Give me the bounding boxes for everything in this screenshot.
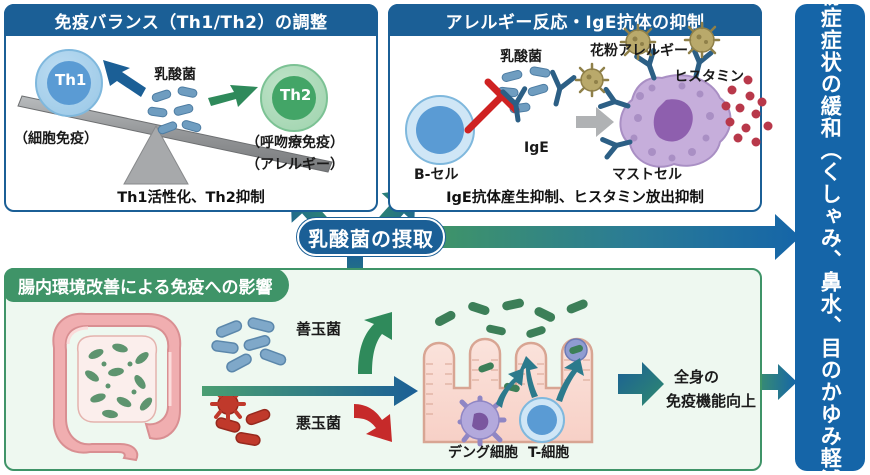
good-bacteria-cluster bbox=[211, 317, 286, 374]
lactic-bacteria-label: 乳酸菌 bbox=[154, 64, 196, 84]
b-cell bbox=[406, 96, 474, 164]
bad-bacteria-label: 悪玉菌 bbox=[296, 412, 341, 433]
immune-balance-caption: Th1活性化、Th2抑制 bbox=[6, 186, 376, 207]
th1-label: Th1 bbox=[55, 71, 86, 89]
good-bacteria-label: 善玉菌 bbox=[296, 318, 341, 339]
arrow-grey-to-mastcell bbox=[576, 107, 614, 137]
panel-gut-environment: 腸内環境改善による免疫への影響 bbox=[4, 268, 762, 471]
pollen-allergy-label: 花粉アレルギー bbox=[590, 40, 688, 60]
panel-allergy-ige: アレルギー反応・IgE抗体の抑制 bbox=[388, 4, 762, 212]
panel-immune-balance: 免疫バランス（Th1/Th2）の調整 bbox=[4, 4, 378, 212]
panel-gut-environment-title: 腸内環境改善による免疫への影響 bbox=[4, 268, 289, 302]
result-text: 花粉症症状の緩和（くしゃみ、鼻水、目のかゆみ軽減） bbox=[795, 4, 865, 471]
outcome-label-line1: 全身の bbox=[674, 366, 719, 387]
th1-sublabel: （細胞免疫） bbox=[14, 128, 98, 148]
allergy-caption: IgE抗体産生抑制、ヒスタミン放出抑制 bbox=[390, 186, 760, 207]
ige-label: IgE bbox=[524, 140, 549, 156]
arrow-to-th2 bbox=[208, 85, 258, 107]
diagram-root: 免疫バランス（Th1/Th2）の調整 bbox=[0, 0, 870, 475]
histamine-label: ヒスタミン bbox=[674, 66, 744, 86]
th2-sublabel-allergy: （アレルギー） bbox=[246, 154, 344, 174]
arrow-to-th1 bbox=[103, 60, 146, 97]
mastcell-label: マストセル bbox=[612, 164, 682, 184]
arrow-to-outcome bbox=[618, 362, 664, 406]
outcome-label-line2: 免疫機能向上 bbox=[666, 390, 756, 411]
tcell-label: T-細胞 bbox=[528, 442, 569, 462]
central-intake-pill: 乳酸菌の摂取 bbox=[297, 218, 445, 256]
intestine-illustration bbox=[24, 306, 204, 466]
bcell-label: B-セル bbox=[414, 164, 458, 184]
dendritic-cell-label: デング細胞 bbox=[448, 442, 518, 462]
th2-sublabel: （呼吻療免疫） bbox=[246, 132, 344, 152]
arrow-good-bacteria-up bbox=[358, 312, 392, 374]
t-cell bbox=[520, 398, 564, 442]
bad-bacteria-cluster bbox=[215, 408, 271, 446]
bacteria-uptake-vesicle bbox=[565, 339, 587, 361]
arrow-bad-bacteria-down bbox=[354, 404, 392, 442]
panel-result: 花粉症症状の緩和（くしゃみ、鼻水、目のかゆみ軽減） bbox=[795, 4, 865, 471]
lactic-bacteria-label-allergy: 乳酸菌 bbox=[500, 46, 542, 66]
villi-immune-illustration bbox=[416, 292, 626, 467]
arrow-right-main bbox=[435, 214, 800, 260]
panel-immune-balance-title: 免疫バランス（Th1/Th2）の調整 bbox=[4, 4, 378, 36]
th2-label: Th2 bbox=[280, 86, 311, 104]
